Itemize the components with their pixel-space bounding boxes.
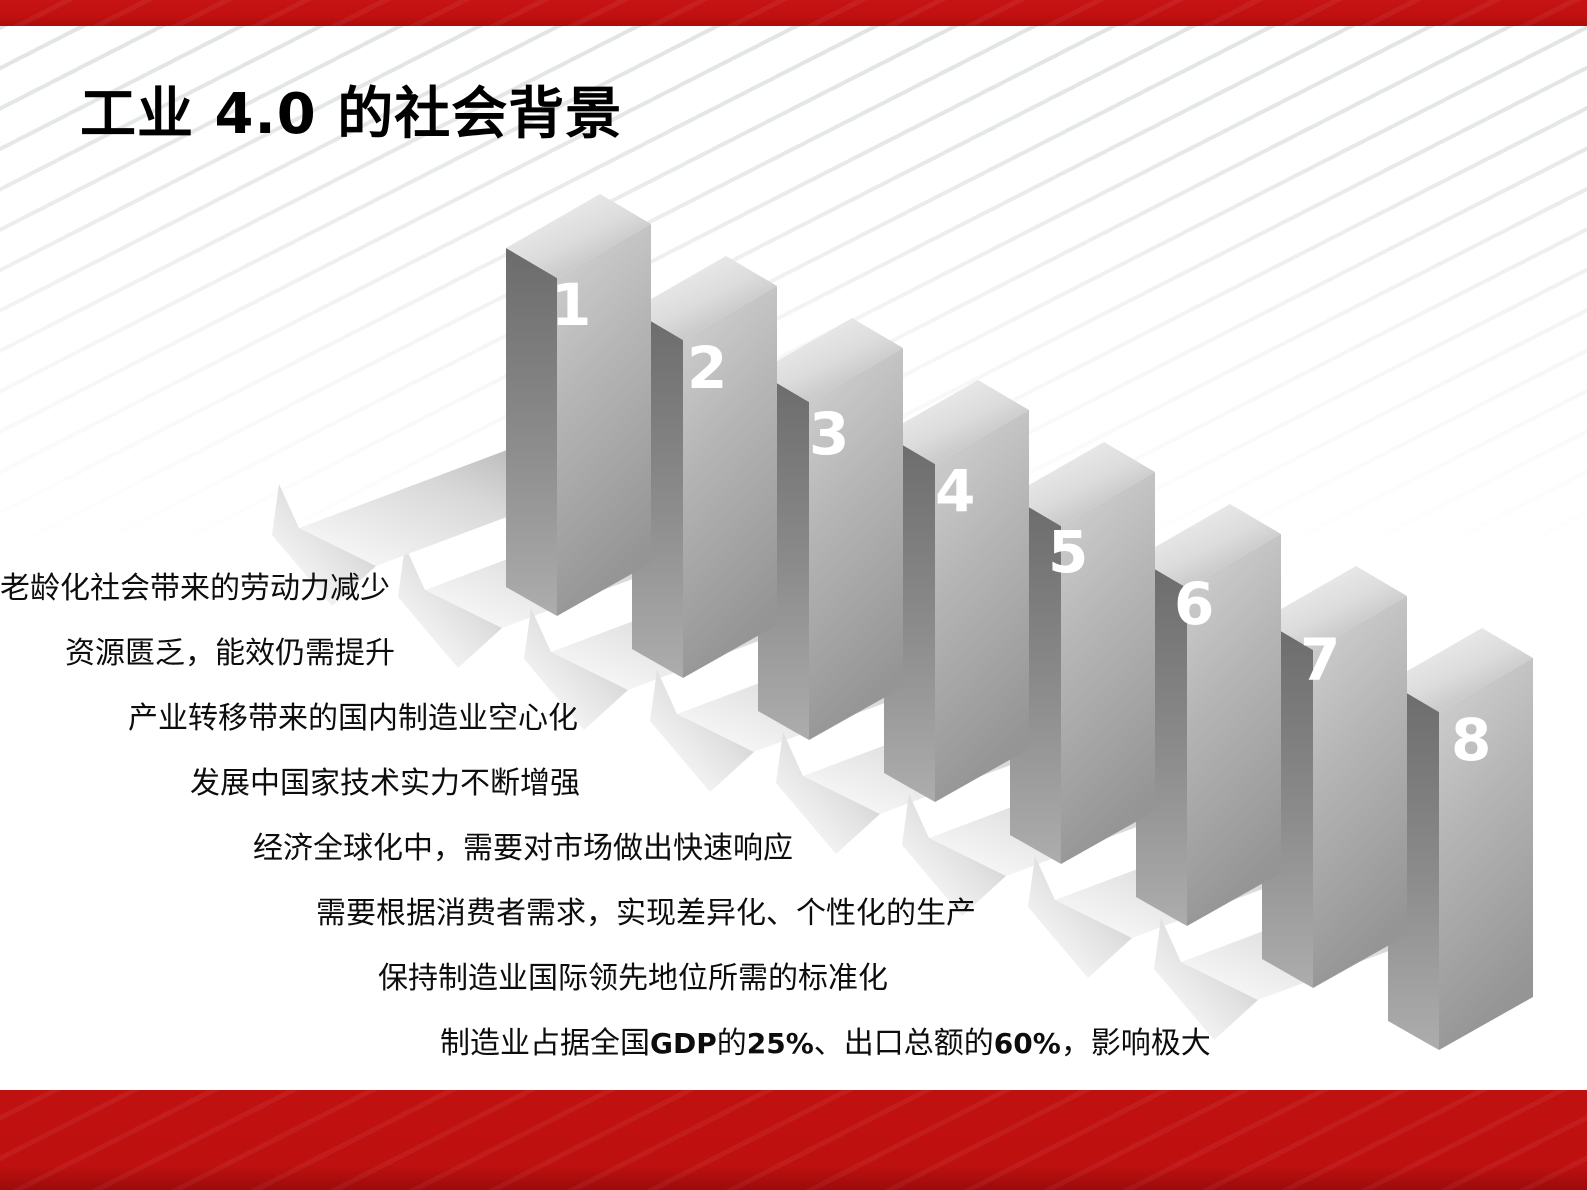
step-block-number-3: 3 (809, 400, 849, 468)
step-label-2: 资源匮乏，能效仍需提升 (0, 621, 1290, 686)
step-label-8: 制造业占据全国GDP的25%、出口总额的60%，影响极大 (0, 1011, 1290, 1076)
top-red-bar (0, 0, 1587, 26)
step-block-number-2: 2 (687, 334, 727, 402)
step-label-1: 老龄化社会带来的劳动力减少 (0, 556, 1290, 621)
step-block-number-1: 1 (551, 271, 591, 339)
step-block-8: 8 (1388, 628, 1533, 1050)
page-title: 工业 4.0 的社会背景 (80, 84, 622, 146)
step-label-5: 经济全球化中，需要对市场做出快速响应 (0, 816, 1290, 881)
step-label-3: 产业转移带来的国内制造业空心化 (0, 686, 1290, 751)
bottom-red-bar (0, 1090, 1587, 1190)
step-block-1: 1 (506, 194, 651, 616)
slide-canvas: 工业 4.0 的社会背景 (0, 0, 1587, 1190)
step-label-list: 老龄化社会带来的劳动力减少 资源匮乏，能效仍需提升 产业转移带来的国内制造业空心… (0, 556, 1290, 1076)
step-block-number-8: 8 (1451, 706, 1491, 774)
step-label-4: 发展中国家技术实力不断增强 (0, 751, 1290, 816)
step-block-number-4: 4 (935, 457, 975, 525)
step-label-6: 需要根据消费者需求，实现差异化、个性化的生产 (0, 881, 1290, 946)
step-block-number-7: 7 (1300, 626, 1340, 694)
step-label-7: 保持制造业国际领先地位所需的标准化 (0, 946, 1290, 1011)
